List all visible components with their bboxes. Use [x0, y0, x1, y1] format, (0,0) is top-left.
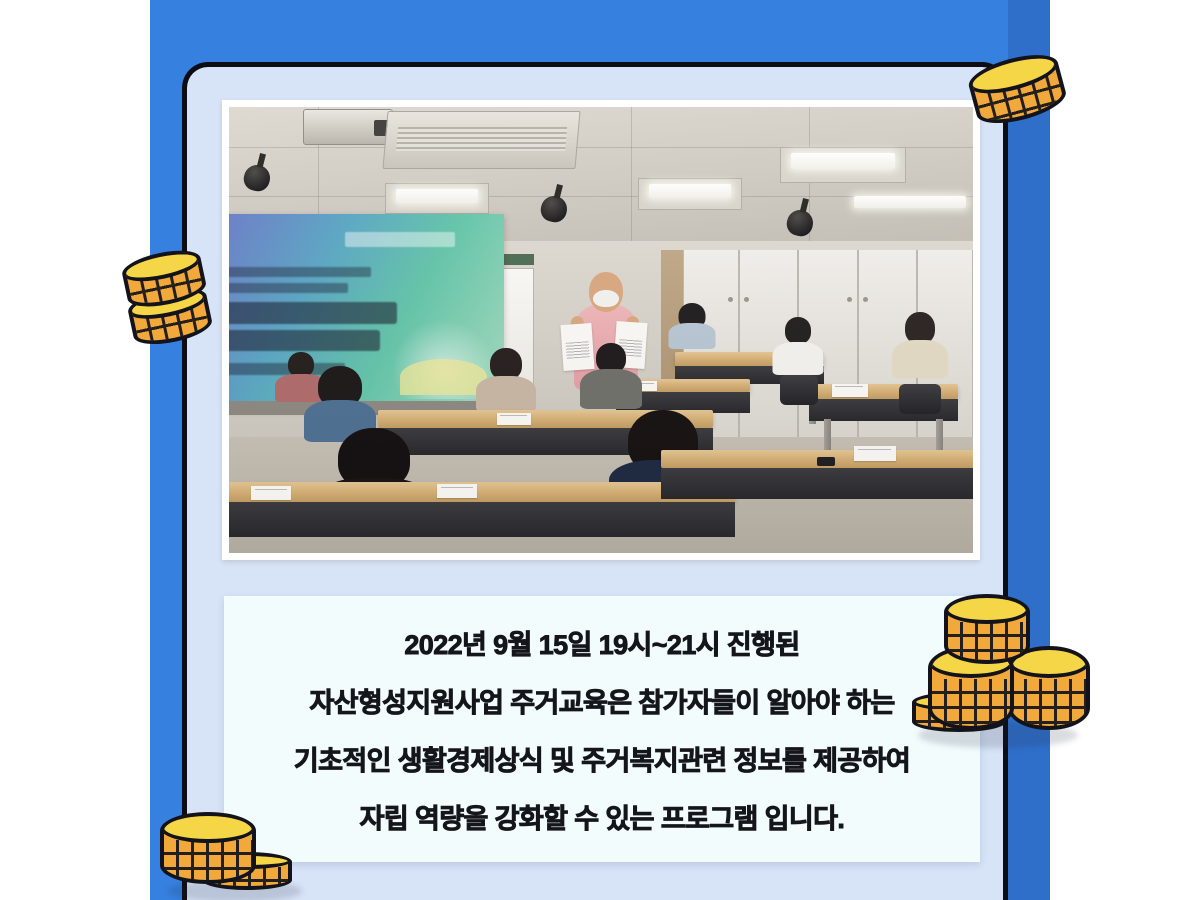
coin — [160, 812, 256, 884]
classroom-photo — [229, 107, 973, 553]
cabinet-handle — [744, 297, 749, 302]
attendee — [891, 312, 949, 378]
description-line-1: 2022년 9월 15일 19시~21시 진행된 — [404, 623, 799, 662]
coin-ribs — [164, 840, 252, 880]
attendee — [772, 317, 824, 375]
description-textbox: 2022년 9월 15일 19시~21시 진행된 자산형성지원사업 주거교육은 … — [224, 596, 980, 862]
screen-text-line — [229, 267, 371, 277]
desk — [229, 482, 735, 502]
ceiling-light — [854, 196, 966, 208]
promo-card-canvas: 2022년 9월 15일 19시~21시 진행된 자산형성지원사업 주거교육은 … — [0, 0, 1200, 900]
panel-shade-strip — [1008, 0, 1050, 900]
photo-frame — [222, 100, 980, 560]
screen-logo-row — [345, 232, 455, 248]
chair — [780, 375, 818, 405]
ac-grill — [397, 127, 568, 152]
smartphone — [817, 457, 835, 466]
ceiling-light — [396, 189, 478, 203]
cabinet-handle — [728, 297, 733, 302]
attendee-body — [668, 323, 715, 349]
ceiling-light — [791, 153, 895, 168]
handout-paper — [832, 384, 868, 397]
coin-top-face — [944, 594, 1030, 624]
handout-paper — [854, 446, 896, 461]
coin-ribs — [932, 679, 1010, 726]
attendee-body — [580, 369, 642, 409]
attendee — [579, 343, 643, 409]
attendee — [475, 348, 537, 412]
coin-ribs — [1012, 679, 1086, 726]
attendee-body — [892, 340, 948, 378]
ceiling-light — [649, 184, 731, 198]
attendee — [668, 303, 716, 349]
handout-paper — [497, 413, 531, 425]
bottom-left-coin-stack — [160, 796, 310, 900]
description-line-3: 기초적인 생활경제상식 및 주거복지관련 정보를 제공하여 — [294, 739, 910, 778]
projector-icon — [303, 109, 392, 145]
description-line-4: 자립 역량을 강화할 수 있는 프로그램 입니다. — [360, 797, 845, 836]
screen-text-line — [229, 283, 348, 293]
handout-paper — [251, 486, 291, 500]
right-coin-stack — [912, 594, 1088, 754]
cabinet-handle — [863, 297, 868, 302]
coin — [965, 47, 1070, 131]
desk-panel — [229, 502, 735, 538]
screen-text-line — [229, 330, 380, 352]
handout-paper — [437, 484, 477, 498]
instructor-mask — [593, 290, 619, 307]
attendee-head — [785, 317, 811, 344]
coin-top-face — [160, 812, 256, 843]
coin — [944, 594, 1030, 664]
ceiling-ac-unit — [383, 111, 582, 169]
desk-panel — [661, 468, 973, 499]
ceiling-seam — [631, 107, 632, 241]
coin-ribs — [948, 622, 1026, 660]
chair — [899, 384, 941, 414]
screen-text-line — [229, 302, 397, 324]
description-line-2: 자산형성지원사업 주거교육은 참가자들이 알아야 하는 — [309, 681, 894, 720]
cabinet-handle — [847, 297, 852, 302]
attendee-body — [773, 342, 824, 375]
attendee-body — [476, 376, 536, 412]
